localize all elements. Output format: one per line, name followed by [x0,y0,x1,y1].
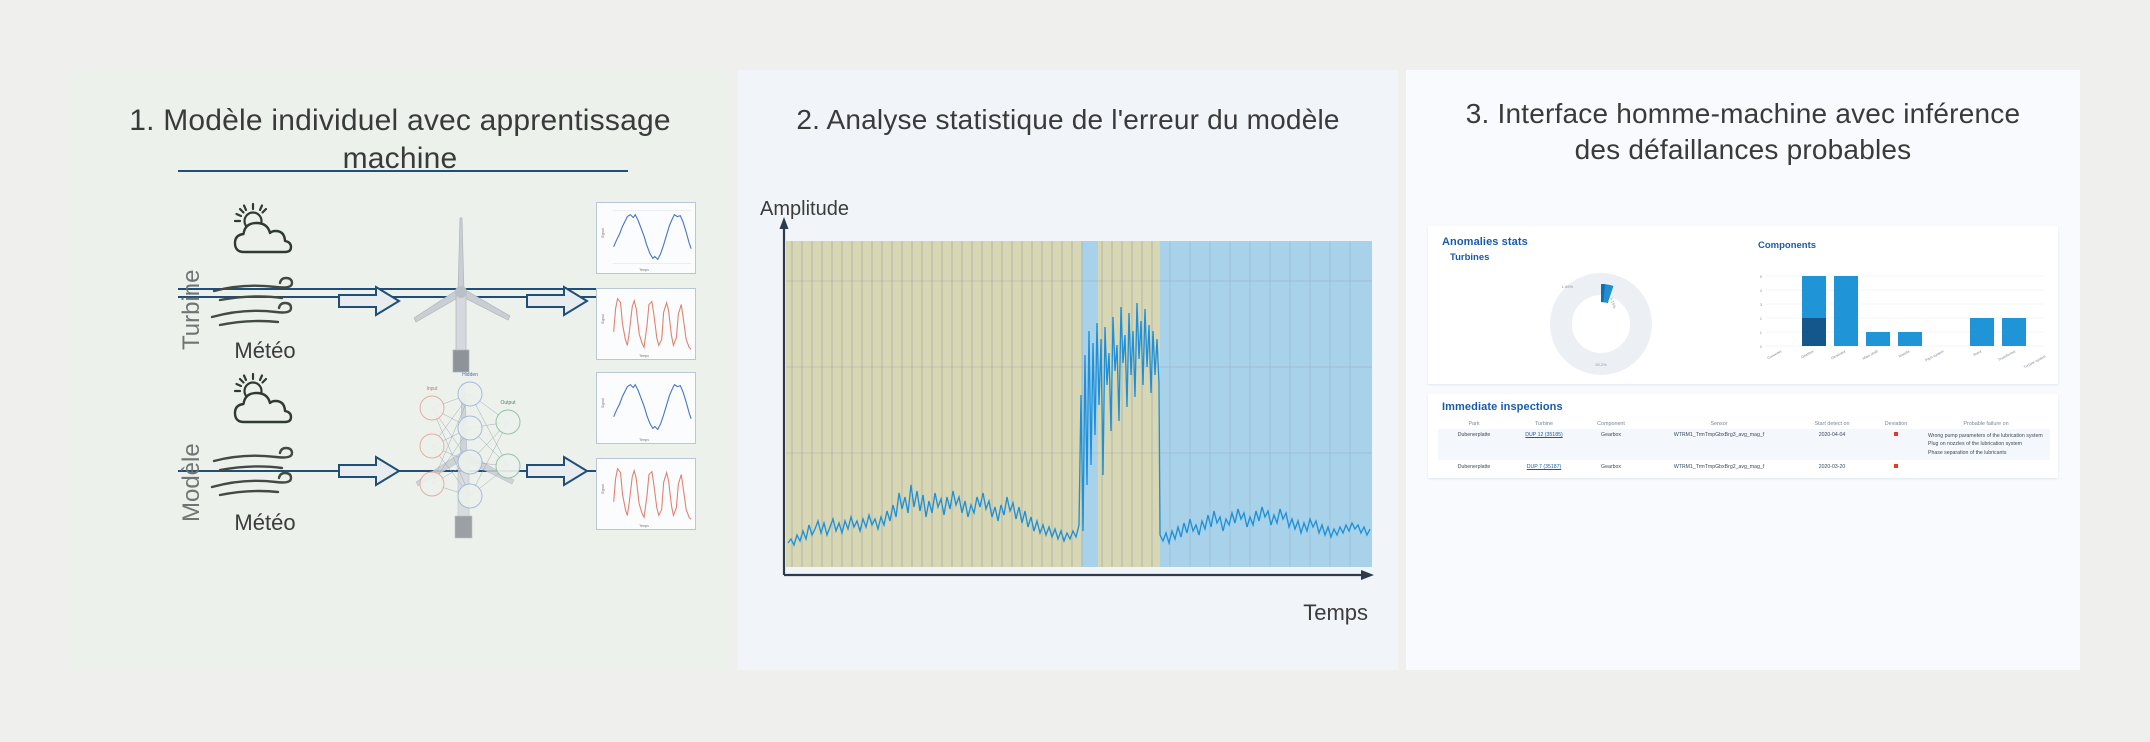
xlabel-turbine-system: Turbine system [2023,354,2046,369]
xlabel-generator: Generator [1830,349,1847,361]
model-error-timeseries-chart [778,235,1378,615]
svg-text:3: 3 [1760,302,1763,307]
svg-text:1: 1 [1760,330,1763,335]
immediate-inspections-heading: Immediate inspections [1442,401,1563,413]
bar-generator [1834,276,1858,346]
panel-statistical-analysis: 2. Analyse statistique de l'erreur du mo… [738,70,1398,670]
xlabel-pitch-system: Pitch system [1925,349,1945,362]
nn-label-hidden: Hidden [462,372,478,378]
panel-hmi-inference: 3. Interface homme-machine avec inférenc… [1406,70,2080,670]
bar-main-shaft [1866,332,1890,346]
panel3-title: 3. Interface homme-machine avec inférenc… [1406,96,2080,168]
meteo-label-1: Météo [200,338,330,364]
bar-gearbox [1802,276,1826,346]
failure-item: Plug on nozzles of the lubrication syste… [1928,440,2050,448]
failure-item: Phase separation of the lubricants [1928,449,2050,457]
neural-network-diagram: Input Hidden Output [402,370,527,545]
cell-start-detect: 2020-04-04 [1794,432,1870,438]
arrow-right-icon-2 [526,286,588,316]
xlabel-gearbox: Gearbox [1800,349,1814,359]
panel-individual-model: 1. Modèle individuel avec apprentissage … [70,70,730,670]
col-sensor: Sensor [1644,421,1794,427]
nn-label-output: Output [500,400,516,406]
meteo-label-2: Météo [200,510,330,536]
sun-cloud-icon [220,202,310,264]
slide-canvas: 1. Modèle individuel avec apprentissage … [0,0,2150,742]
signal-plot-blue: Signal Temps [596,202,696,274]
table-row[interactable]: Dubenerplatte DUP 12 (35185) Gearbox WTR… [1438,429,2050,460]
bar-rotor [1970,318,1994,346]
svg-text:4: 4 [1760,288,1763,293]
components-section-label: Components [1758,240,1816,251]
bar-transformer [2002,318,2026,346]
table-row[interactable]: Dubenerplatte DUP 7 (35187) Gearbox WTRM… [1438,460,2050,474]
arrow-right-icon-3 [338,456,400,486]
svg-text:0: 0 [1760,344,1763,349]
col-turbine: Turbine [1510,421,1578,427]
cell-probable-failure: Wrong pump parameters of the lubrication… [1922,432,2050,457]
components-anomaly-bars[interactable]: 54 32 10 [1748,258,2048,378]
inspections-table-header: Park Turbine Component Sensor Start dete… [1438,419,2050,429]
turbines-section-label: Turbines [1450,252,1489,263]
region-training-2 [1098,241,1160,567]
xlabel-nacelle: Nacelle [1898,349,1910,358]
nn-label-input: Input [426,386,438,392]
xlabel-transformer: Transformer [1997,349,2017,362]
cell-sensor: WTRM1_TrmTmpGbxBrg3_avg_mag_f [1644,432,1794,438]
col-probable-failure: Probable failure on [1922,421,2050,427]
bar-nacelle [1898,332,1922,346]
deviation-status-badge [1894,432,1898,436]
col-component: Component [1578,421,1644,427]
col-deviation: Deviation [1870,421,1922,427]
svg-text:2: 2 [1760,316,1763,321]
cell-component: Gearbox [1578,432,1644,438]
panel1-title: 1. Modèle individuel avec apprentissage … [70,102,730,179]
turbines-anomaly-donut[interactable]: 1.65% 93.2% 5.15% [1536,266,1666,378]
cell-component: Gearbox [1578,464,1644,470]
wind-turbine-image-1 [406,200,516,375]
failure-item: Wrong pump parameters of the lubrication… [1928,432,2050,440]
arrow-right-icon-4 [526,456,588,486]
col-park: Park [1438,421,1510,427]
svg-text:Temps: Temps [639,524,649,528]
xlabel-main-shaft: Main shaft [1862,349,1879,360]
anomalies-stats-heading: Anomalies stats [1442,236,1528,248]
deviation-status-badge [1894,464,1898,468]
anomalies-stats-card: Anomalies stats Turbines Components 1.65… [1428,226,2058,384]
cell-turbine-link[interactable]: DUP 7 (35187) [1510,464,1578,470]
signal-plot-red-2: Signal Temps [596,458,696,530]
xlabel-rotor: Rotor [1973,349,1983,357]
svg-text:Signal: Signal [601,228,605,238]
donut-label-large: 93.2% [1595,362,1607,367]
cell-start-detect: 2020-03-20 [1794,464,1870,470]
immediate-inspections-card: Immediate inspections Park Turbine Compo… [1428,394,2058,478]
cell-deviation [1870,464,1922,470]
col-start-detect: Start detect on [1794,421,1870,427]
svg-text:Signal: Signal [601,314,605,324]
svg-text:Temps: Temps [639,268,649,272]
svg-text:Signal: Signal [601,484,605,494]
svg-text:Temps: Temps [639,438,649,442]
region-training [786,241,1082,567]
arrow-right-icon-1 [338,286,400,316]
cell-sensor: WTRM1_TrmTmpGbxBrg2_avg_mag_f [1644,464,1794,470]
region-alarm [1160,241,1372,567]
donut-label-small: 1.65% [1562,284,1574,289]
signal-plot-red: Signal Temps [596,288,696,360]
panel2-title: 2. Analyse statistique de l'erreur du mo… [738,102,1398,138]
wind-icon-2 [210,448,325,500]
svg-text:5: 5 [1760,274,1763,279]
svg-text:Temps: Temps [639,354,649,358]
svg-text:Signal: Signal [601,398,605,408]
cell-deviation [1870,432,1922,438]
xlabel-converter: Converter [1767,349,1784,360]
sun-cloud-icon-2 [220,372,310,434]
cell-turbine-link[interactable]: DUP 12 (35185) [1510,432,1578,438]
cell-park: Dubenerplatte [1438,432,1510,438]
wind-icon [210,278,325,330]
divider-top [178,170,628,172]
y-axis-label-amplitude: Amplitude [760,198,849,221]
cell-park: Dubenerplatte [1438,464,1510,470]
signal-plot-blue-2: Signal Temps [596,372,696,444]
